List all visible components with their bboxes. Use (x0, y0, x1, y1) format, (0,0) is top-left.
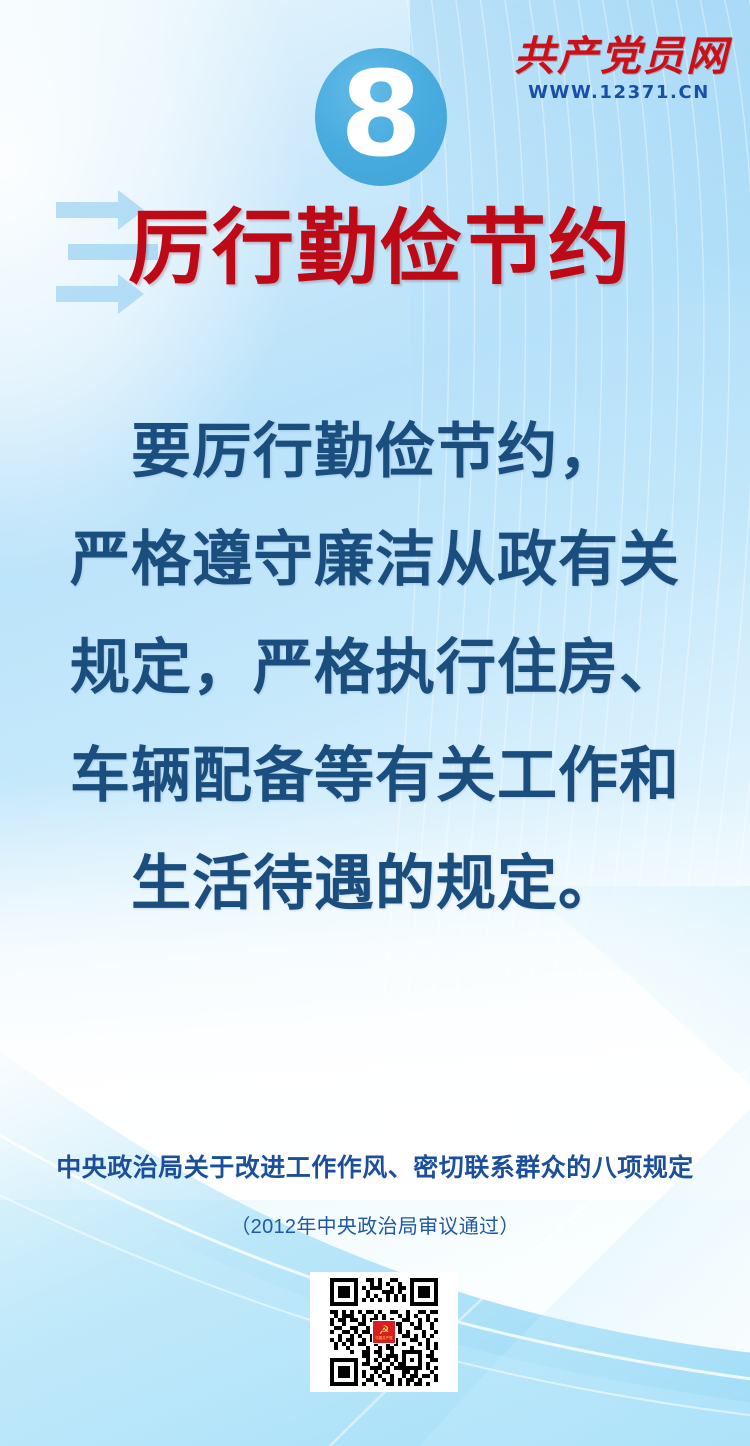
number-badge: 8 (315, 48, 447, 186)
qr-code[interactable]: ☭ 中国共产党 (310, 1272, 458, 1392)
body-line: 车辆配备等有关工作和 (0, 722, 750, 830)
party-emblem-text: 中国共产党 (376, 1337, 393, 1340)
body-line: 规定，严格执行住房、 (0, 614, 750, 722)
body-text: 要厉行勤俭节约， 严格遵守廉洁从政有关 规定，严格执行住房、 车辆配备等有关工作… (0, 398, 750, 938)
body-line: 要厉行勤俭节约， (0, 398, 750, 506)
brand-logo[interactable]: 共产党员网 WWW.12371.CN (514, 36, 724, 102)
brand-logo-icon: 共产党员网 (514, 36, 724, 77)
page-title: 厉行勤俭节约 (128, 203, 632, 295)
number-badge-value: 8 (340, 55, 422, 173)
body-line: 生活待遇的规定。 (0, 830, 750, 938)
footer-title: 中央政治局关于改进工作作风、密切联系群众的八项规定 (0, 1148, 750, 1184)
poster-canvas: 共产党员网 WWW.12371.CN 8 厉行勤俭节约 要厉行勤俭节约， 严格遵… (0, 0, 750, 1446)
footer: 中央政治局关于改进工作作风、密切联系群众的八项规定 （2012年中央政治局审议通… (0, 1148, 750, 1239)
party-emblem-glyph: ☭ (379, 1324, 390, 1336)
footer-subtitle: （2012年中央政治局审议通过） (0, 1210, 750, 1239)
party-emblem-icon: ☭ 中国共产党 (372, 1320, 396, 1344)
body-line: 严格遵守廉洁从政有关 (0, 506, 750, 614)
brand-url: WWW.12371.CN (514, 84, 724, 102)
